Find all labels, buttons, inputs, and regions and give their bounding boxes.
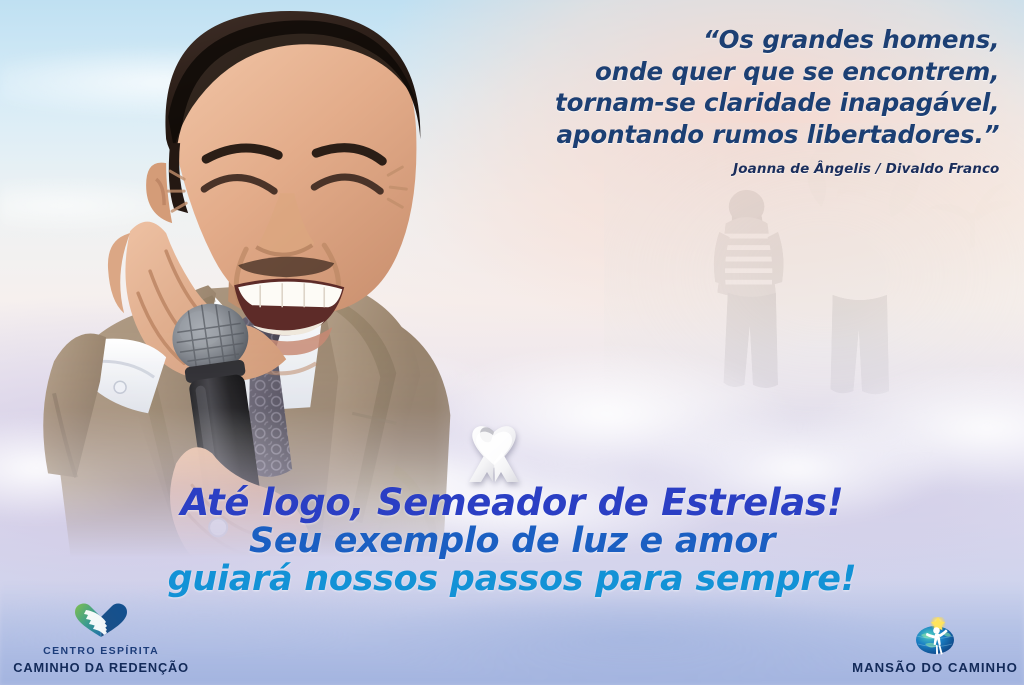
quote-line-4: apontando rumos libertadores.”: [426, 119, 999, 151]
memorial-poster: “Os grandes homens, onde quer que se enc…: [0, 0, 1024, 685]
white-ribbon-icon: [465, 412, 523, 488]
logo-mansao-do-caminho[interactable]: MANSÃO DO CAMINHO: [852, 617, 1018, 677]
quote-block: “Os grandes homens, onde quer que se enc…: [426, 24, 999, 177]
logo-right-text: MANSÃO DO CAMINHO: [852, 659, 1018, 677]
logo-centro-espirita-caminho-da-redencao[interactable]: CENTRO ESPÍRITA CAMINHO DA REDENÇÃO: [13, 601, 189, 677]
quote-line-2: onde quer que se encontrem,: [426, 56, 999, 88]
hands-heart-icon: [72, 601, 130, 639]
globe-figure-star-icon: [909, 617, 961, 657]
quote-line-1: “Os grandes homens,: [426, 24, 999, 56]
headline-line-3: guiará nossos passos para sempre!: [0, 561, 1024, 599]
quote-line-3: tornam-se claridade inapagável,: [426, 87, 999, 119]
headline-line-1: Até logo, Semeador de Estrelas!: [0, 483, 1024, 523]
logo-left-line-1: CENTRO ESPÍRITA: [43, 645, 159, 657]
logo-right-line-2: MANSÃO DO CAMINHO: [852, 660, 1018, 675]
logo-left-line-2: CAMINHO DA REDENÇÃO: [13, 660, 189, 675]
headline-line-2: Seu exemplo de luz e amor: [0, 523, 1024, 561]
logo-left-text: CENTRO ESPÍRITA CAMINHO DA REDENÇÃO: [13, 641, 189, 677]
headline-block: Até logo, Semeador de Estrelas! Seu exem…: [0, 483, 1024, 599]
quote-attribution: Joanna de Ângelis / Divaldo Franco: [426, 161, 999, 177]
